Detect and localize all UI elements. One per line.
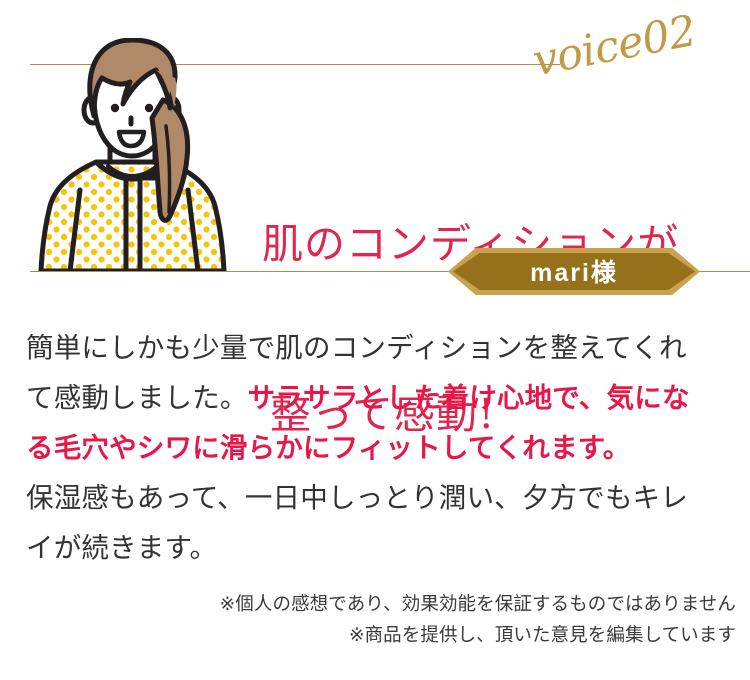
body-line: イが続きます。	[26, 523, 732, 573]
footnote-line: ※商品を提供し、頂いた意見を編集しています	[0, 619, 736, 650]
testimonial-header: voice02 肌のコンディションが 整って感動! mari様	[0, 0, 750, 300]
body-line: る毛穴やシワに滑らかにフィットしてくれます。	[26, 423, 732, 473]
body-line: て感動しました。サラサラとした着け心地で、気にな	[26, 373, 732, 423]
body-text-plain: 保湿感もあって、一日中しっとり潤い、夕方でもキレ	[26, 482, 688, 513]
voice-number-label: voice02	[530, 3, 740, 110]
body-text-emphasis: る毛穴やシワに滑らかにフィットしてくれます。	[26, 432, 630, 463]
body-line: 保湿感もあって、一日中しっとり潤い、夕方でもキレ	[26, 473, 732, 523]
testimonial-voice-card: voice02 肌のコンディションが 整って感動! mari様 簡単にしかも少量…	[0, 0, 750, 680]
reviewer-name-badge: mari様	[448, 248, 700, 295]
body-text-plain: 簡単にしかも少量で肌のコンディションを整えてくれ	[26, 332, 687, 363]
body-text-emphasis: サラサラとした着け心地で、気にな	[248, 382, 690, 413]
body-text-plain: て感動しました。	[26, 382, 248, 413]
woman-avatar-illustration	[30, 38, 235, 271]
body-line: 簡単にしかも少量で肌のコンディションを整えてくれ	[26, 323, 732, 373]
reviewer-name: mari様	[448, 248, 700, 295]
body-text-plain: イが続きます。	[26, 532, 217, 563]
testimonial-body: 簡単にしかも少量で肌のコンディションを整えてくれて感動しました。サラサラとした着…	[26, 323, 732, 573]
footnote-line: ※個人の感想であり、効果効能を保証するものではありません	[0, 588, 736, 619]
testimonial-footnotes: ※個人の感想であり、効果効能を保証するものではありません※商品を提供し、頂いた意…	[0, 588, 736, 650]
